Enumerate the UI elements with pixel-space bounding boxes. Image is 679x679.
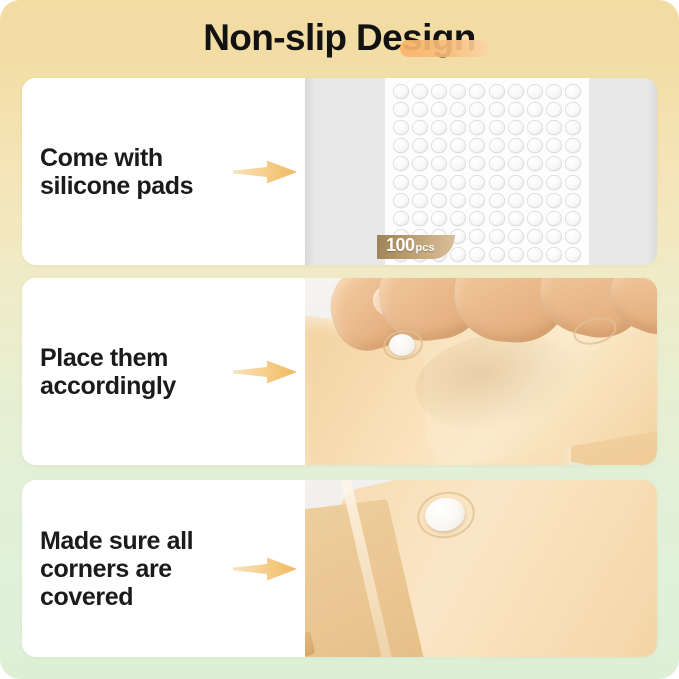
card-2-text-panel: Place them accordingly <box>22 278 305 465</box>
silicone-pad <box>412 193 428 208</box>
silicone-pad <box>469 84 485 99</box>
feature-card-1: Come with silicone pads 100 <box>22 78 657 265</box>
silicone-pad <box>546 138 562 153</box>
page-title: Non-slip Design <box>203 19 476 56</box>
silicone-pad <box>546 229 562 244</box>
silicone-pad <box>527 102 543 117</box>
silicone-pad <box>565 247 581 262</box>
silicone-pad <box>469 247 485 262</box>
silicone-pad <box>469 211 485 226</box>
silicone-pad <box>431 120 447 135</box>
silicone-pad <box>546 175 562 190</box>
silicone-pad <box>431 175 447 190</box>
silicone-pad <box>565 229 581 244</box>
silicone-pad <box>489 84 505 99</box>
silicone-pad <box>508 193 524 208</box>
silicone-pad <box>393 175 409 190</box>
silicone-pad <box>431 193 447 208</box>
badge-count: 100 <box>386 235 415 256</box>
silicone-pad <box>546 84 562 99</box>
silicone-pad <box>393 138 409 153</box>
silicone-pad <box>489 211 505 226</box>
silicone-pad <box>527 247 543 262</box>
silicone-pad <box>393 193 409 208</box>
silicone-pad <box>527 84 543 99</box>
feature-card-2: Place them accordingly <box>22 278 657 465</box>
silicone-pad <box>412 175 428 190</box>
title-highlight-underline <box>400 40 488 57</box>
silicone-pad <box>393 120 409 135</box>
silicone-pad <box>431 211 447 226</box>
corner-closeup-illustration <box>305 480 657 657</box>
sheet-shadow-right <box>647 78 657 265</box>
silicone-pad <box>489 102 505 117</box>
page-title-container: Non-slip Design <box>0 6 679 68</box>
silicone-pad <box>412 211 428 226</box>
silicone-pad <box>508 175 524 190</box>
silicone-pad <box>489 193 505 208</box>
silicone-pad <box>469 156 485 171</box>
card-1-text-panel: Come with silicone pads <box>22 78 305 265</box>
silicone-pad <box>469 102 485 117</box>
silicone-pad <box>469 175 485 190</box>
silicone-pad <box>546 193 562 208</box>
silicone-pad <box>527 156 543 171</box>
arrow-right-icon <box>233 556 297 582</box>
silicone-pad <box>565 120 581 135</box>
card-1-photo: 100 pcs <box>305 78 657 265</box>
quantity-badge: 100 pcs <box>377 235 455 259</box>
silicone-pad <box>469 193 485 208</box>
silicone-pad <box>450 193 466 208</box>
arrow-right-icon <box>233 159 297 185</box>
silicone-pad <box>565 193 581 208</box>
silicone-pad <box>431 84 447 99</box>
silicone-pad <box>469 120 485 135</box>
card-2-photo <box>305 278 657 465</box>
arrow-right-icon <box>233 359 297 385</box>
sheet-shadow-left <box>305 78 315 265</box>
silicone-pad <box>412 120 428 135</box>
silicone-pad <box>450 138 466 153</box>
silicone-pad <box>412 84 428 99</box>
silicone-pad <box>489 156 505 171</box>
infographic-page: Non-slip Design Come with silicone pads <box>0 0 679 679</box>
silicone-pad <box>527 138 543 153</box>
card-3-text-panel: Made sure all corners are covered <box>22 480 305 657</box>
silicone-pad <box>393 156 409 171</box>
silicone-pad-being-placed <box>389 334 415 356</box>
silicone-pad <box>489 247 505 262</box>
silicone-pad <box>489 120 505 135</box>
silicone-pad <box>450 102 466 117</box>
silicone-pad <box>565 175 581 190</box>
silicone-pad <box>527 175 543 190</box>
silicone-pad <box>546 102 562 117</box>
silicone-pad <box>489 175 505 190</box>
silicone-pad <box>546 247 562 262</box>
silicone-pad <box>546 211 562 226</box>
silicone-pad <box>565 156 581 171</box>
silicone-pad <box>431 138 447 153</box>
silicone-pad <box>412 102 428 117</box>
silicone-pad <box>508 156 524 171</box>
card-1-caption: Come with silicone pads <box>22 144 232 200</box>
silicone-pad <box>393 84 409 99</box>
card-3-photo <box>305 480 657 657</box>
silicone-pad <box>508 211 524 226</box>
silicone-pad <box>450 156 466 171</box>
silicone-pad <box>508 120 524 135</box>
silicone-pad <box>450 120 466 135</box>
silicone-pad <box>489 229 505 244</box>
card-2-caption: Place them accordingly <box>22 344 232 400</box>
silicone-pad <box>431 156 447 171</box>
silicone-pad <box>489 138 505 153</box>
silicone-pad <box>431 102 447 117</box>
silicone-pad <box>527 120 543 135</box>
silicone-pad <box>527 229 543 244</box>
card-3-caption: Made sure all corners are covered <box>22 527 232 611</box>
hand-placing-pad-illustration <box>305 278 657 465</box>
feature-card-3: Made sure all corners are covered <box>22 480 657 657</box>
silicone-pad <box>450 84 466 99</box>
silicone-pad <box>508 138 524 153</box>
silicone-pad <box>508 229 524 244</box>
silicone-pad <box>546 120 562 135</box>
badge-unit: pcs <box>416 242 435 254</box>
silicone-pad <box>565 102 581 117</box>
silicone-pad <box>508 102 524 117</box>
silicone-pad <box>565 211 581 226</box>
silicone-pad <box>450 175 466 190</box>
silicone-pad <box>546 156 562 171</box>
silicone-pad <box>565 138 581 153</box>
silicone-pad <box>469 138 485 153</box>
silicone-pad <box>450 211 466 226</box>
silicone-pad <box>508 247 524 262</box>
silicone-pad <box>412 138 428 153</box>
silicone-pad <box>527 211 543 226</box>
silicone-pad <box>469 229 485 244</box>
silicone-pad <box>450 247 466 262</box>
silicone-pad <box>565 84 581 99</box>
silicone-pad <box>412 156 428 171</box>
silicone-pad <box>393 102 409 117</box>
silicone-pad <box>393 211 409 226</box>
silicone-pad <box>527 193 543 208</box>
silicone-pad <box>508 84 524 99</box>
